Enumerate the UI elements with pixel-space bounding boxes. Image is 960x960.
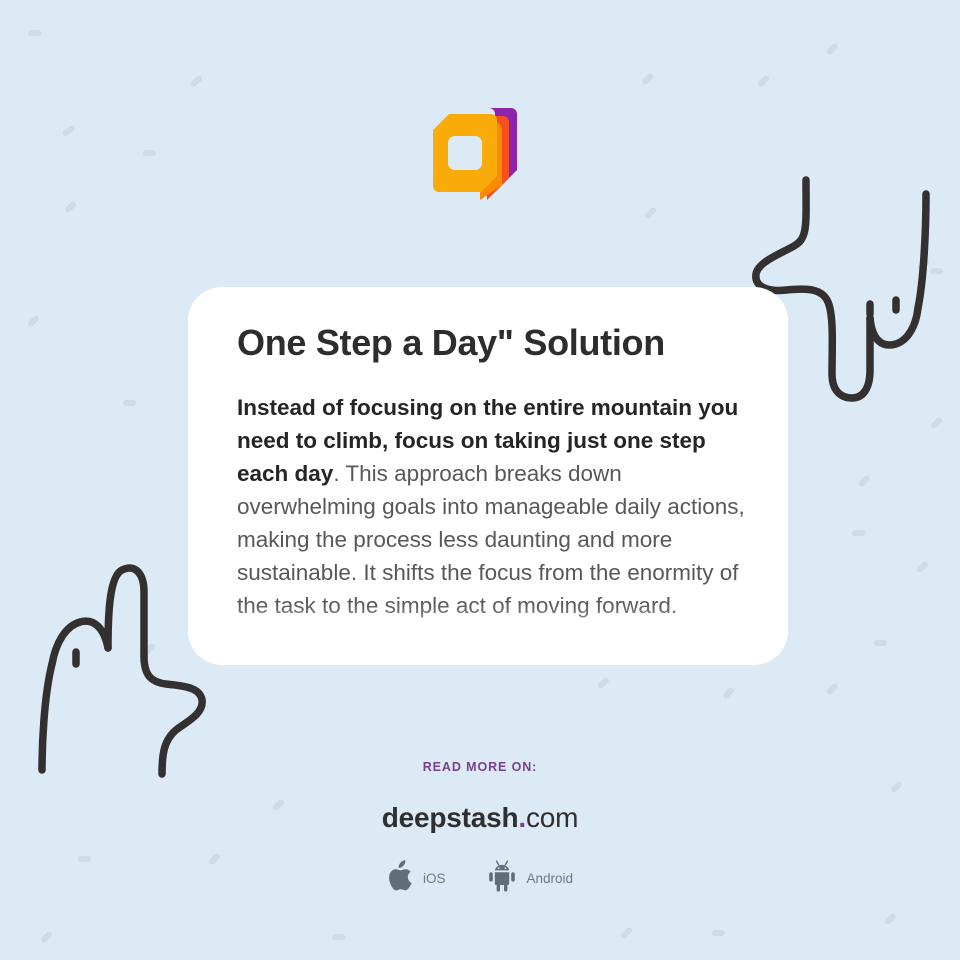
deepstash-stacked-squares-logo: [425, 100, 525, 200]
deepstash-share-card: One Step a Day" Solution Instead of focu…: [0, 0, 960, 960]
confetti-mark: [597, 676, 610, 690]
confetti-mark: [28, 30, 41, 36]
logo-svg: [425, 100, 525, 200]
confetti-mark: [143, 642, 156, 656]
confetti-mark: [40, 930, 53, 944]
card-body: Instead of focusing on the entire mounta…: [237, 391, 753, 622]
apple-icon-svg: [387, 860, 414, 892]
android-store-badge[interactable]: Android: [487, 860, 573, 897]
confetti-mark: [644, 206, 657, 219]
android-icon-svg: [487, 860, 517, 892]
confetti-mark: [641, 72, 654, 86]
confetti-mark: [712, 930, 725, 936]
wordmark-name: deepstash: [382, 802, 519, 833]
deepstash-wordmark[interactable]: deepstash.com: [0, 802, 960, 834]
confetti-mark: [722, 686, 735, 700]
idea-card: One Step a Day" Solution Instead of focu…: [188, 287, 788, 665]
confetti-mark: [916, 560, 930, 573]
confetti-mark: [884, 912, 897, 926]
footer: READ MORE ON: deepstash.com iOS: [0, 760, 960, 897]
ios-store-badge[interactable]: iOS: [387, 860, 446, 897]
confetti-mark: [64, 200, 78, 213]
confetti-mark: [27, 314, 40, 328]
confetti-mark: [757, 74, 770, 88]
card-title: One Step a Day" Solution: [237, 320, 753, 365]
apple-icon: [387, 860, 414, 897]
confetti-mark: [917, 258, 931, 271]
confetti-mark: [874, 640, 887, 646]
read-more-label: READ MORE ON:: [0, 760, 960, 774]
confetti-mark: [620, 926, 633, 939]
confetti-mark: [123, 400, 136, 406]
android-label: Android: [526, 871, 573, 886]
confetti-mark: [826, 42, 839, 56]
ios-label: iOS: [423, 871, 446, 886]
confetti-mark: [930, 416, 943, 429]
confetti-mark: [332, 934, 345, 940]
wordmark-dot: .: [518, 802, 526, 833]
app-store-badges: iOS: [0, 860, 960, 897]
confetti-mark: [826, 682, 839, 695]
confetti-mark: [62, 125, 76, 138]
android-icon: [487, 860, 517, 897]
confetti-mark: [930, 268, 943, 274]
wordmark-tld: com: [526, 802, 578, 833]
confetti-mark: [190, 74, 204, 87]
confetti-mark: [852, 530, 865, 536]
confetti-mark: [143, 150, 156, 156]
card-content: One Step a Day" Solution Instead of focu…: [237, 320, 753, 622]
confetti-mark: [858, 474, 871, 488]
